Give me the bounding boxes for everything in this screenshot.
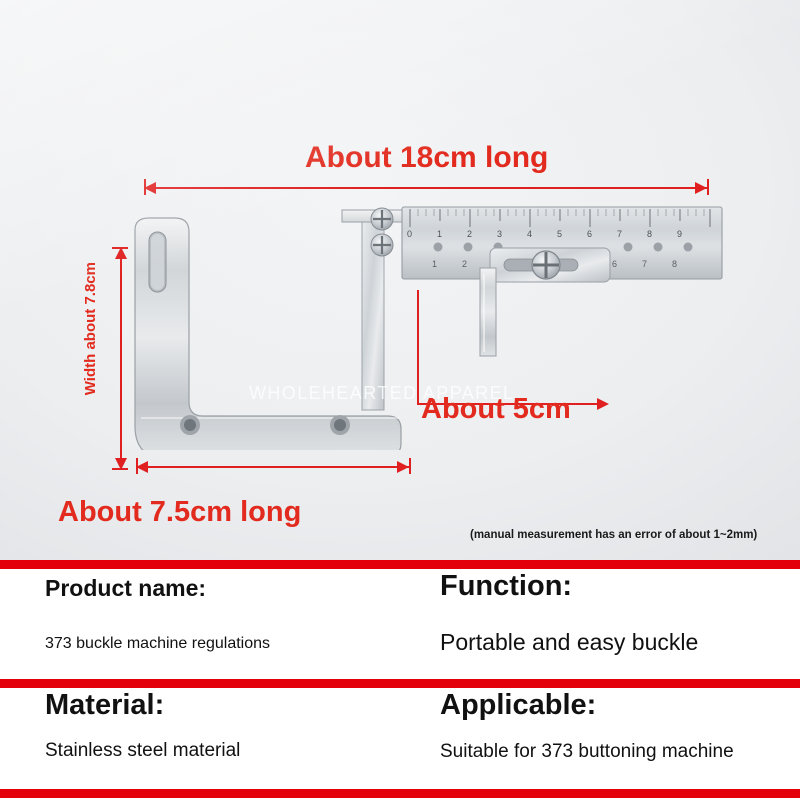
screw-icon xyxy=(532,251,560,279)
divider-bar-middle xyxy=(0,679,800,688)
divider-bar-top xyxy=(0,560,800,569)
svg-text:8: 8 xyxy=(672,259,677,269)
spec-value-product-name: 373 buckle machine regulations xyxy=(45,635,270,653)
product-photo: 012 345 678 9 123 678 xyxy=(0,0,800,560)
watermark: WHOLEHEARTED APPAREL xyxy=(249,383,514,404)
spec-head-material: Material: xyxy=(45,689,164,722)
screw-icon xyxy=(371,208,393,256)
measurement-note: (manual measurement has an error of abou… xyxy=(470,529,757,541)
svg-text:0: 0 xyxy=(407,229,412,239)
spec-value-material: Stainless steel material xyxy=(45,740,240,762)
dimension-label-short: About 7.5cm long xyxy=(58,496,301,529)
sliding-guide-part xyxy=(478,228,623,368)
svg-text:1: 1 xyxy=(437,229,442,239)
svg-text:7: 7 xyxy=(642,259,647,269)
spec-value-applicable: Suitable for 373 buttoning machine xyxy=(440,741,734,763)
svg-text:9: 9 xyxy=(677,229,682,239)
spec-head-applicable: Applicable: xyxy=(440,689,596,722)
svg-text:1: 1 xyxy=(432,259,437,269)
dimension-label-width: Width about 7.8cm xyxy=(82,262,99,395)
svg-text:8: 8 xyxy=(647,229,652,239)
svg-text:2: 2 xyxy=(462,259,467,269)
product-image-page: 012 345 678 9 123 678 xyxy=(0,0,800,800)
divider-bar-bottom xyxy=(0,789,800,798)
spec-head-function: Function: xyxy=(440,570,572,603)
dimension-label-length: About 18cm long xyxy=(305,141,548,175)
spec-head-product-name: Product name: xyxy=(45,575,206,602)
svg-text:2: 2 xyxy=(467,229,472,239)
spec-value-function: Portable and easy buckle xyxy=(440,629,698,656)
